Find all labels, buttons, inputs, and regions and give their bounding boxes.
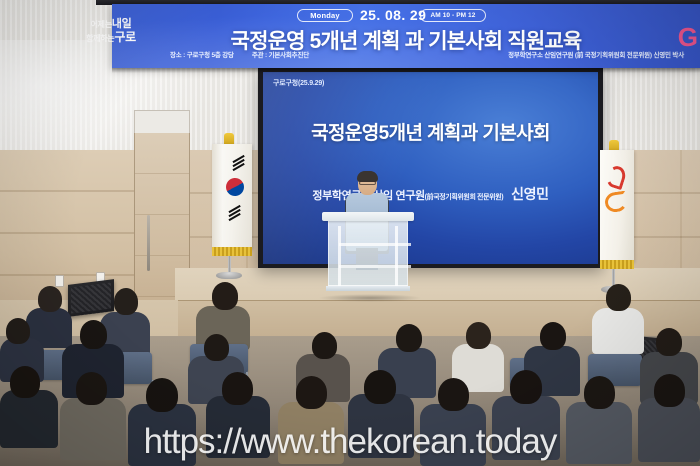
screen-affiliation-right: 연구원 — [396, 190, 425, 202]
logo-line1-small: 어제는 — [91, 20, 112, 29]
screen-slide-speaker: 정부학연구소 산임 연구원(前국정기획위원회 전문위원)신영민 — [263, 184, 598, 204]
audience-member — [592, 308, 644, 354]
door-handle — [147, 215, 150, 271]
door-transom — [134, 110, 190, 134]
banner-corner-letter: G — [678, 24, 698, 50]
banner-date: 25. 08. 29 — [360, 7, 426, 23]
audience-head — [364, 370, 396, 404]
banner-host: 주관 : 기본사회추진단 — [252, 52, 309, 59]
audience-head — [438, 378, 469, 411]
screen-slide-title: 국정운영5개년 계획과 기본사회 — [263, 118, 598, 145]
audience-head — [510, 370, 542, 404]
screen-header-label: 구로구청(25.9.29) — [273, 78, 324, 88]
guro-emblem-red-icon — [604, 164, 628, 190]
audience-head — [296, 376, 327, 409]
presenter-glasses-icon — [359, 181, 376, 185]
banner-shadow — [112, 68, 700, 73]
audience-head — [212, 282, 238, 310]
audience-head — [312, 332, 337, 359]
audience-head — [656, 328, 682, 356]
logo-line2-small: 함께하는 — [86, 34, 114, 43]
audience-head — [654, 374, 685, 407]
audience-head — [584, 376, 615, 409]
flag-fringe-left — [212, 247, 252, 256]
banner-day-pill: Monday — [297, 9, 353, 22]
podium-leg-right — [395, 226, 398, 286]
audience-head — [466, 322, 491, 349]
guro-emblem-orange-icon — [604, 191, 629, 214]
podium-shelf-1 — [339, 243, 411, 246]
photo-scene: 구로구청(25.9.29) 국정운영5개년 계획과 기본사회 정부학연구소 산임… — [0, 0, 700, 466]
banner-time-pill: AM 10 - PM 12 — [420, 9, 486, 22]
audience-head — [76, 372, 107, 405]
audience-head — [38, 286, 62, 312]
podium-shelf-2 — [339, 265, 411, 268]
audience-head — [606, 284, 631, 311]
guro-district-flag — [600, 150, 634, 262]
flag-fringe-right — [600, 260, 634, 269]
watermark: https://www.thekorean.today — [0, 422, 700, 462]
flag-fold-left — [212, 144, 223, 249]
screen-speaker-name: 신영민 — [511, 186, 548, 202]
projection-screen: 구로구청(25.9.29) 국정운영5개년 계획과 기본사회 정부학연구소 산임… — [258, 68, 603, 268]
projection-screen-content: 구로구청(25.9.29) 국정운영5개년 계획과 기본사회 정부학연구소 산임… — [263, 72, 598, 264]
audience-head — [114, 288, 138, 315]
banner-speaker-credit: 정부학연구소 산임연구원 (前 국정기획위원회 전문위원) 신영민 박사 — [508, 49, 684, 59]
audience-head — [204, 334, 229, 361]
audience-head — [146, 378, 178, 412]
audience-head — [540, 322, 566, 350]
banner-venue-host: 장소 : 구로구청 5층 강당주관 : 기본사회추진단 — [170, 49, 327, 59]
audience-head — [80, 320, 107, 349]
audience-head — [6, 318, 30, 344]
korean-national-flag — [212, 144, 252, 249]
podium-top — [322, 212, 414, 221]
audience-head — [396, 324, 422, 352]
taeguk-symbol-icon — [223, 175, 247, 199]
podium-leg-left — [338, 226, 341, 286]
audience-head — [222, 372, 253, 405]
screen-affiliation-note: (前국정기획위원회 전문위원) — [425, 194, 503, 201]
flag-base-left — [216, 272, 242, 279]
audience-head — [10, 366, 40, 398]
banner-venue: 장소 : 구로구청 5층 강당 — [170, 52, 234, 59]
